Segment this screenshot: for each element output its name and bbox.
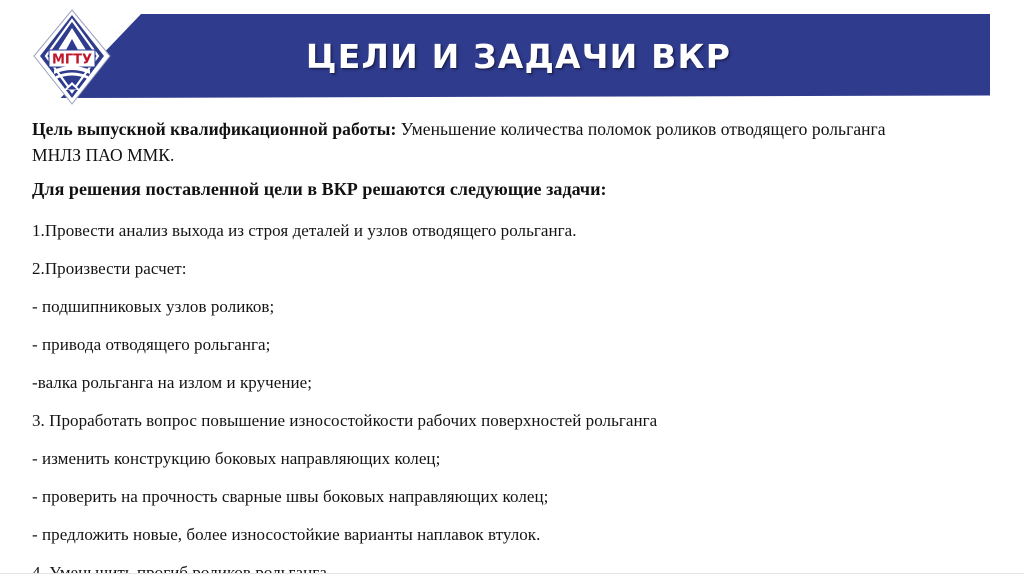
list-item: - предложить новые, более износостойкие …	[32, 524, 994, 545]
list-item: -валка рольганга на излом и кручение;	[32, 372, 994, 393]
goal-label: Цель выпускной квалификационной работы:	[32, 119, 396, 139]
list-item: 2.Произвести расчет:	[32, 258, 994, 279]
mgtu-logo-icon: МГТУ	[30, 8, 114, 108]
goal-paragraph: Цель выпускной квалификационной работы: …	[32, 117, 912, 168]
tasks-list: 1.Провести анализ выхода из строя детале…	[32, 220, 994, 574]
list-item: - изменить конструкцию боковых направляю…	[32, 448, 994, 469]
list-item: - проверить на прочность сварные швы бок…	[32, 486, 994, 507]
presentation-slide: ЦЕЛИ И ЗАДАЧИ ВКР МГТУ	[0, 0, 1024, 574]
list-item: - привода отводящего рольганга;	[32, 334, 994, 355]
slide-content: Цель выпускной квалификационной работы: …	[0, 112, 1024, 574]
list-item: - подшипниковых узлов роликов;	[32, 296, 994, 317]
slide-header: ЦЕЛИ И ЗАДАЧИ ВКР МГТУ	[0, 0, 1024, 112]
list-item: 1.Провести анализ выхода из строя детале…	[32, 220, 994, 241]
page-title: ЦЕЛИ И ЗАДАЧИ ВКР	[55, 14, 990, 98]
tasks-heading: Для решения поставленной цели в ВКР реша…	[32, 177, 994, 202]
list-item: 4. Уменьшить прогиб роликов рольганга.	[32, 562, 994, 574]
list-item: 3. Проработать вопрос повышение износост…	[32, 410, 994, 431]
svg-text:МГТУ: МГТУ	[52, 53, 92, 68]
